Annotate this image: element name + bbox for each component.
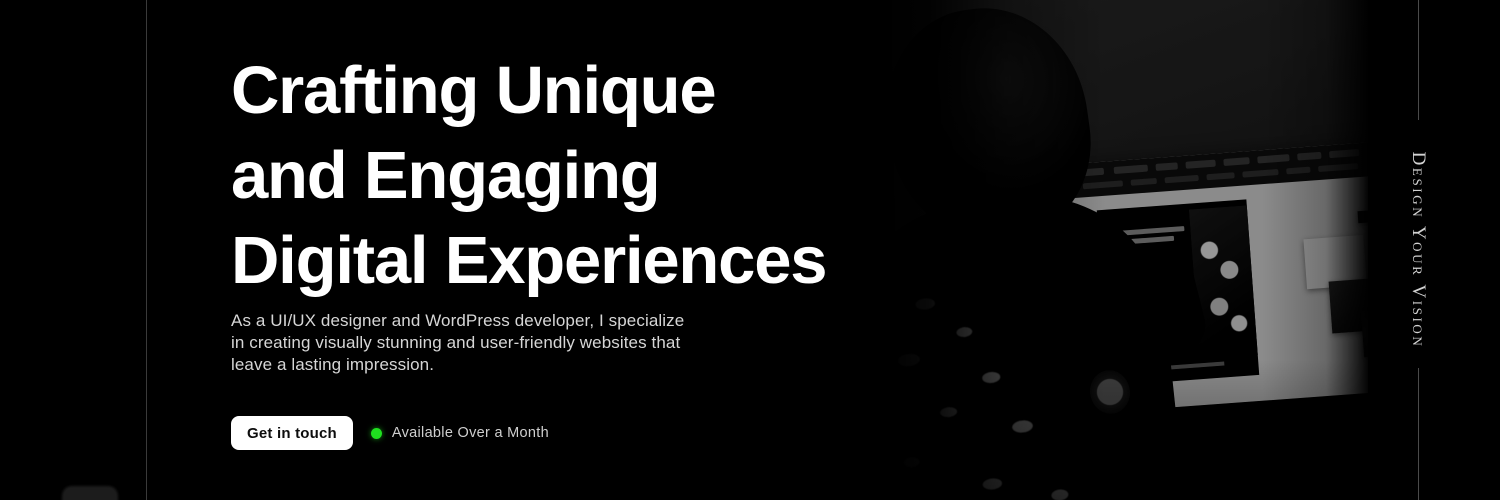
vertical-tagline: Design Your Vision — [1407, 152, 1429, 349]
get-in-touch-button[interactable]: Get in touch — [231, 416, 353, 450]
left-divider-rail — [146, 0, 147, 500]
page-title: Crafting Unique and Engaging Digital Exp… — [231, 48, 826, 303]
hero-cta-row: Get in touch Available Over a Month — [231, 416, 549, 450]
photo-edge-fade — [880, 0, 1370, 500]
hero-section: Crafting Unique and Engaging Digital Exp… — [0, 0, 1500, 500]
bottom-left-nub — [62, 486, 118, 500]
hero-copy: Crafting Unique and Engaging Digital Exp… — [231, 0, 931, 500]
status-dot-icon — [371, 428, 382, 439]
hero-subtitle: As a UI/UX designer and WordPress develo… — [231, 310, 831, 376]
hero-photo — [880, 0, 1370, 500]
right-tagline-strip: Design Your Vision — [1368, 0, 1500, 500]
availability-label: Available Over a Month — [392, 425, 549, 441]
availability-status: Available Over a Month — [371, 425, 549, 441]
